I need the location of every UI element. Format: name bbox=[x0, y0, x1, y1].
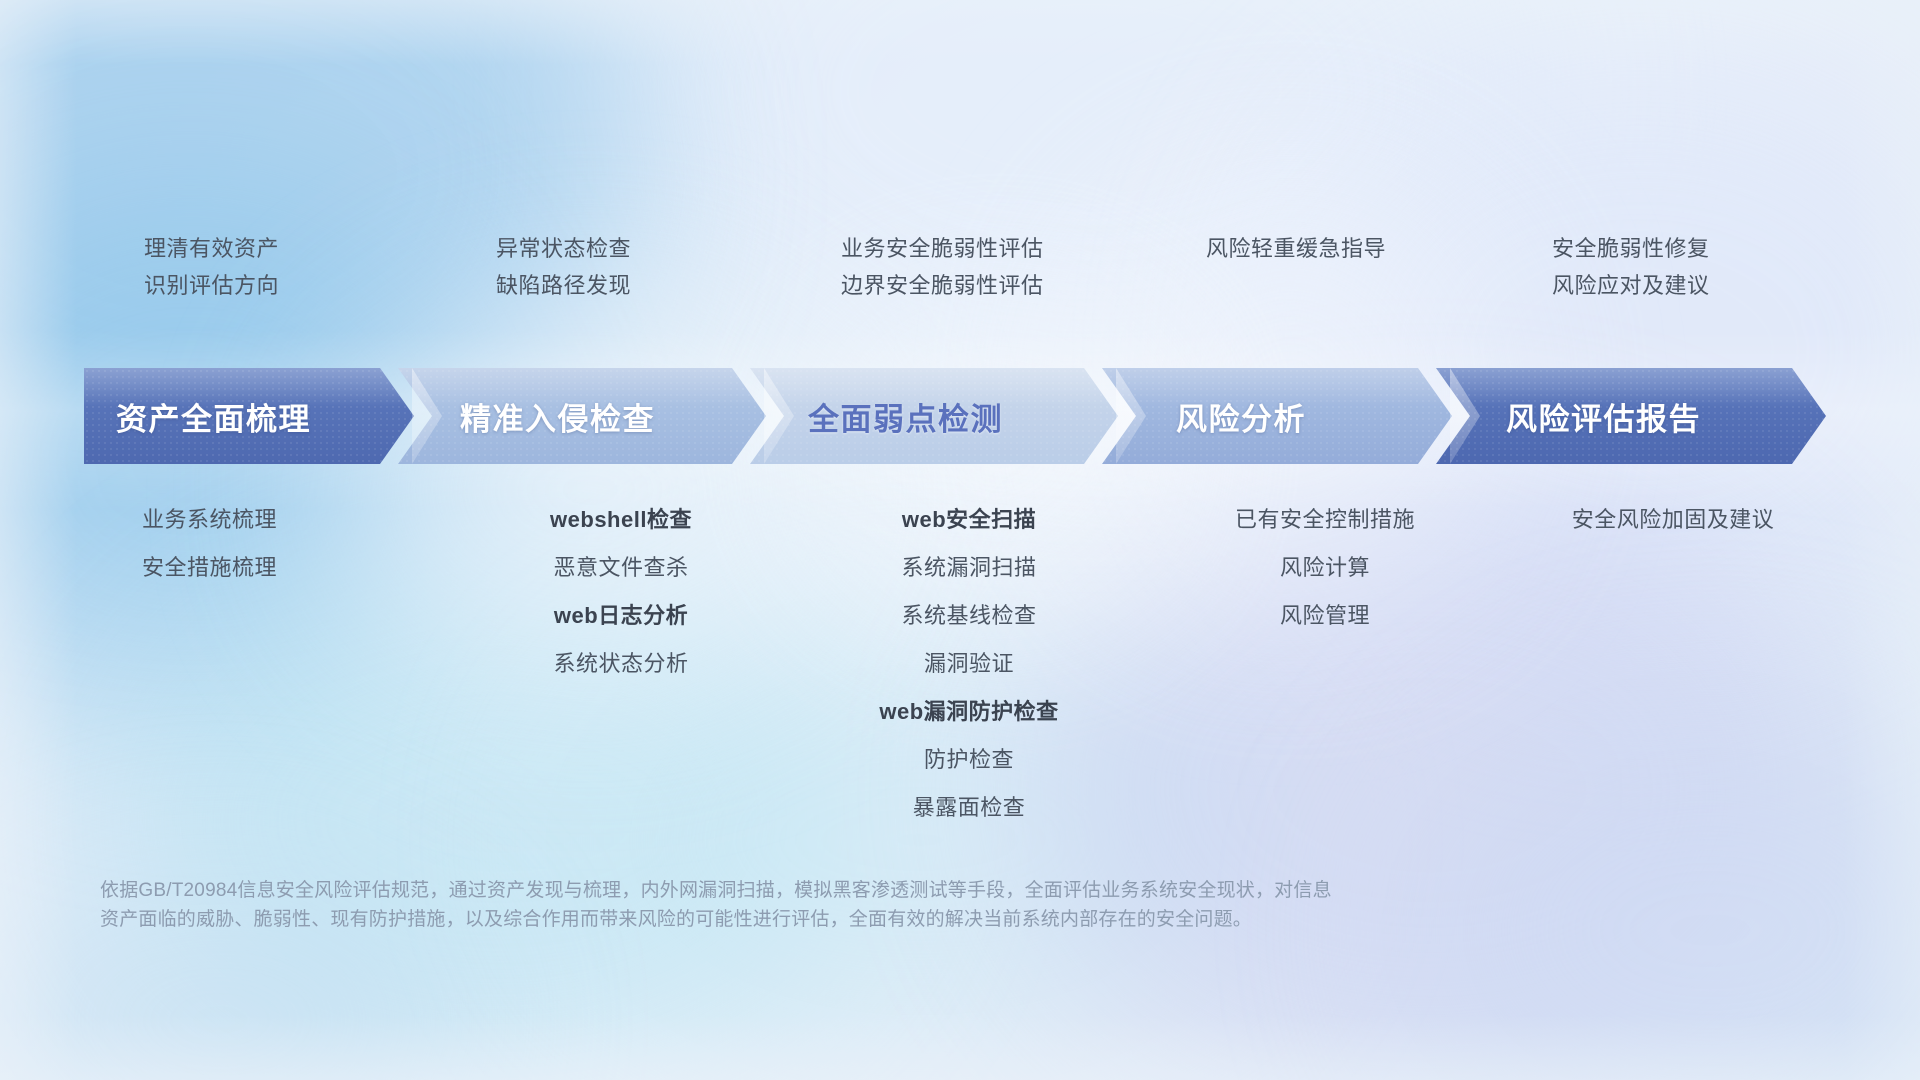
stage-title: 风险分析 bbox=[1176, 394, 1306, 439]
top-label: 边界安全脆弱性评估 bbox=[841, 267, 1134, 304]
bottom-labels-row: 业务系统梳理 安全措施梳理 webshell检查 恶意文件查杀 web日志分析 … bbox=[84, 496, 1844, 832]
top-label: 异常状态检查 bbox=[496, 230, 784, 267]
top-label-group-weakness: 业务安全脆弱性评估 边界安全脆弱性评估 bbox=[784, 230, 1134, 304]
bottom-label: web漏洞防护检查 bbox=[879, 688, 1058, 736]
stage-chevron-risk-analysis[interactable]: 风险分析 bbox=[1102, 368, 1452, 464]
stage-chevron-weakness[interactable]: 全面弱点检测 bbox=[750, 368, 1118, 464]
bottom-label: web日志分析 bbox=[554, 592, 688, 640]
bottom-label-group-intrusion: webshell检查 恶意文件查杀 web日志分析 系统状态分析 bbox=[436, 496, 788, 688]
bottom-label: 系统漏洞扫描 bbox=[901, 544, 1036, 592]
footer-description: 依据GB/T20984信息安全风险评估规范，通过资产发现与梳理，内外网漏洞扫描，… bbox=[100, 876, 1720, 934]
stage-chevron-report[interactable]: 风险评估报告 bbox=[1436, 368, 1826, 464]
slide-canvas: 理清有效资产 识别评估方向 异常状态检查 缺陷路径发现 业务安全脆弱性评估 边界… bbox=[0, 0, 1920, 1080]
top-label: 识别评估方向 bbox=[144, 267, 434, 304]
top-label-group-report: 安全脆弱性修复 风险应对及建议 bbox=[1484, 230, 1834, 304]
bottom-label-group-asset: 业务系统梳理 安全措施梳理 bbox=[84, 496, 436, 592]
bottom-label: 暴露面检查 bbox=[913, 784, 1026, 832]
bottom-label: web安全扫描 bbox=[902, 496, 1036, 544]
bottom-label-group-report: 安全风险加固及建议 bbox=[1492, 496, 1844, 544]
bottom-label: 恶意文件查杀 bbox=[553, 544, 688, 592]
bottom-label: 业务系统梳理 bbox=[142, 496, 277, 544]
stage-title: 风险评估报告 bbox=[1506, 394, 1701, 439]
bottom-label: 系统状态分析 bbox=[553, 640, 688, 688]
bottom-label-group-weakness: web安全扫描 系统漏洞扫描 系统基线检查 漏洞验证 web漏洞防护检查 防护检… bbox=[788, 496, 1140, 832]
top-label: 风险轻重缓急指导 bbox=[1206, 230, 1484, 267]
stage-title: 资产全面梳理 bbox=[116, 394, 311, 439]
bottom-label: 风险计算 bbox=[1280, 544, 1370, 592]
stage-title: 精准入侵检查 bbox=[460, 394, 655, 439]
top-label: 缺陷路径发现 bbox=[496, 267, 784, 304]
stage-title: 全面弱点检测 bbox=[808, 394, 1003, 439]
top-labels-row: 理清有效资产 识别评估方向 异常状态检查 缺陷路径发现 业务安全脆弱性评估 边界… bbox=[84, 230, 1836, 304]
footer-line: 依据GB/T20984信息安全风险评估规范，通过资产发现与梳理，内外网漏洞扫描，… bbox=[100, 876, 1720, 905]
bottom-label: 系统基线检查 bbox=[901, 592, 1036, 640]
bottom-label: 已有安全控制措施 bbox=[1235, 496, 1415, 544]
process-chevron-ribbon: 资产全面梳理 精准入侵检查 全面弱点检测 风险分析 风险评估报告 bbox=[84, 368, 1844, 464]
top-label: 安全脆弱性修复 bbox=[1552, 230, 1834, 267]
top-label-group-asset: 理清有效资产 识别评估方向 bbox=[84, 230, 434, 304]
diagram-content: 理清有效资产 识别评估方向 异常状态检查 缺陷路径发现 业务安全脆弱性评估 边界… bbox=[0, 0, 1920, 1080]
top-label: 理清有效资产 bbox=[144, 230, 434, 267]
bottom-label: 安全风险加固及建议 bbox=[1572, 496, 1775, 544]
top-label-group-risk-analysis: 风险轻重缓急指导 bbox=[1134, 230, 1484, 304]
bottom-label: 风险管理 bbox=[1280, 592, 1370, 640]
bottom-label: 漏洞验证 bbox=[924, 640, 1014, 688]
bottom-label-group-risk-analysis: 已有安全控制措施 风险计算 风险管理 bbox=[1140, 496, 1492, 640]
top-label: 业务安全脆弱性评估 bbox=[841, 230, 1134, 267]
stage-chevron-intrusion[interactable]: 精准入侵检查 bbox=[398, 368, 766, 464]
bottom-label: 安全措施梳理 bbox=[142, 544, 277, 592]
top-label-group-intrusion: 异常状态检查 缺陷路径发现 bbox=[434, 230, 784, 304]
bottom-label: 防护检查 bbox=[924, 736, 1014, 784]
top-label: 风险应对及建议 bbox=[1552, 267, 1834, 304]
footer-line: 资产面临的威胁、脆弱性、现有防护措施，以及综合作用而带来风险的可能性进行评估，全… bbox=[100, 905, 1720, 934]
stage-chevron-asset[interactable]: 资产全面梳理 bbox=[84, 368, 414, 464]
bottom-label: webshell检查 bbox=[550, 496, 692, 544]
